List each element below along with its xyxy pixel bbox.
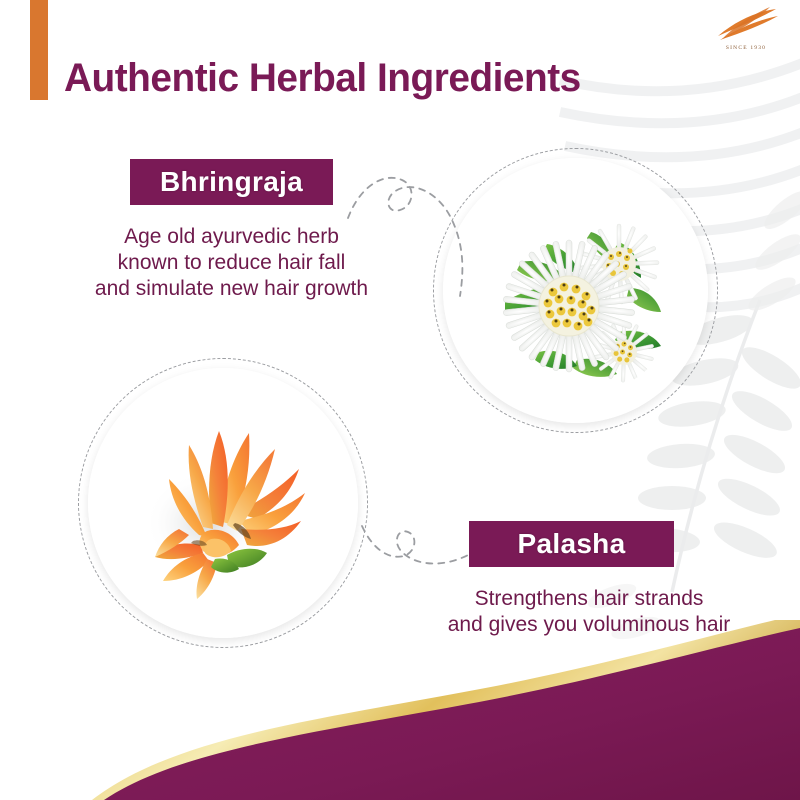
ingredient-image-palasha	[88, 368, 358, 638]
orange-flame-flower-photo	[115, 395, 331, 611]
brand-since-label: SINCE 1930	[710, 45, 782, 51]
ingredient-image-bhringraja	[443, 158, 708, 423]
page-title: Authentic Herbal Ingredients	[64, 56, 581, 101]
white-daisy-flower-photo	[469, 184, 682, 397]
bottom-decorative-wave	[0, 620, 800, 800]
ingredient-name-plate-bhringraja: Bhringraja	[130, 159, 333, 205]
brand-logo: SINCE 1930	[710, 6, 782, 54]
flame-leaf-icon	[710, 6, 782, 44]
ingredient-description-bhringraja: Age old ayurvedic herb known to reduce h…	[40, 224, 423, 302]
ingredient-name-plate-palasha: Palasha	[469, 521, 674, 567]
poster-canvas: Authentic Herbal Ingredients SINCE 1930	[0, 0, 800, 800]
title-accent-bar	[30, 0, 48, 100]
